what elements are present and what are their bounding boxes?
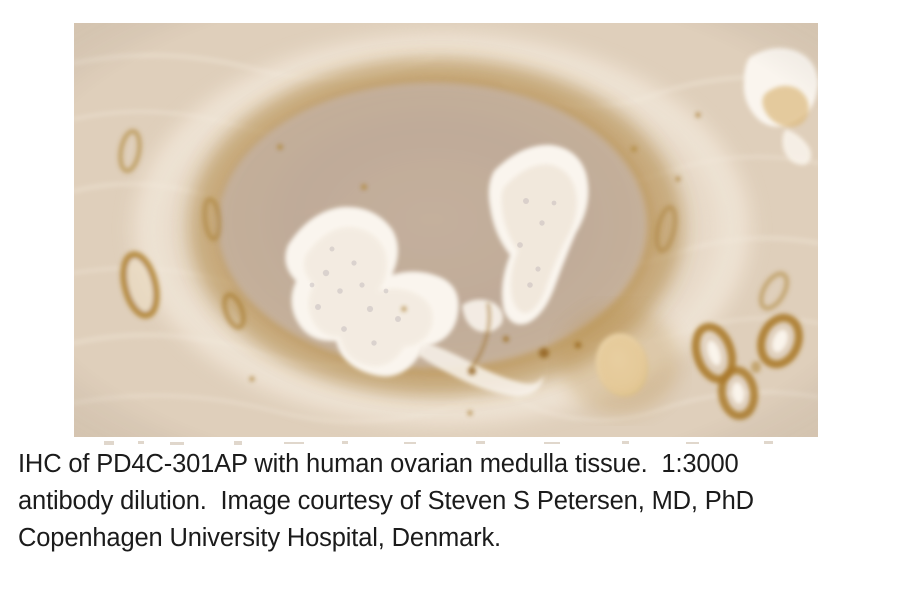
- caption-line-2: antibody dilution. Image courtesy of Ste…: [18, 483, 886, 520]
- caption-line-1: IHC of PD4C-301AP with human ovarian med…: [18, 446, 886, 483]
- warm-wash: [74, 23, 818, 437]
- micrograph-canvas: [74, 23, 818, 437]
- figure-page: IHC of PD4C-301AP with human ovarian med…: [0, 0, 900, 594]
- scan-artifact: [74, 441, 818, 445]
- caption-line-3: Copenhagen University Hospital, Denmark.: [18, 520, 886, 557]
- figure-caption: IHC of PD4C-301AP with human ovarian med…: [18, 446, 886, 557]
- ihc-micrograph: [74, 23, 818, 437]
